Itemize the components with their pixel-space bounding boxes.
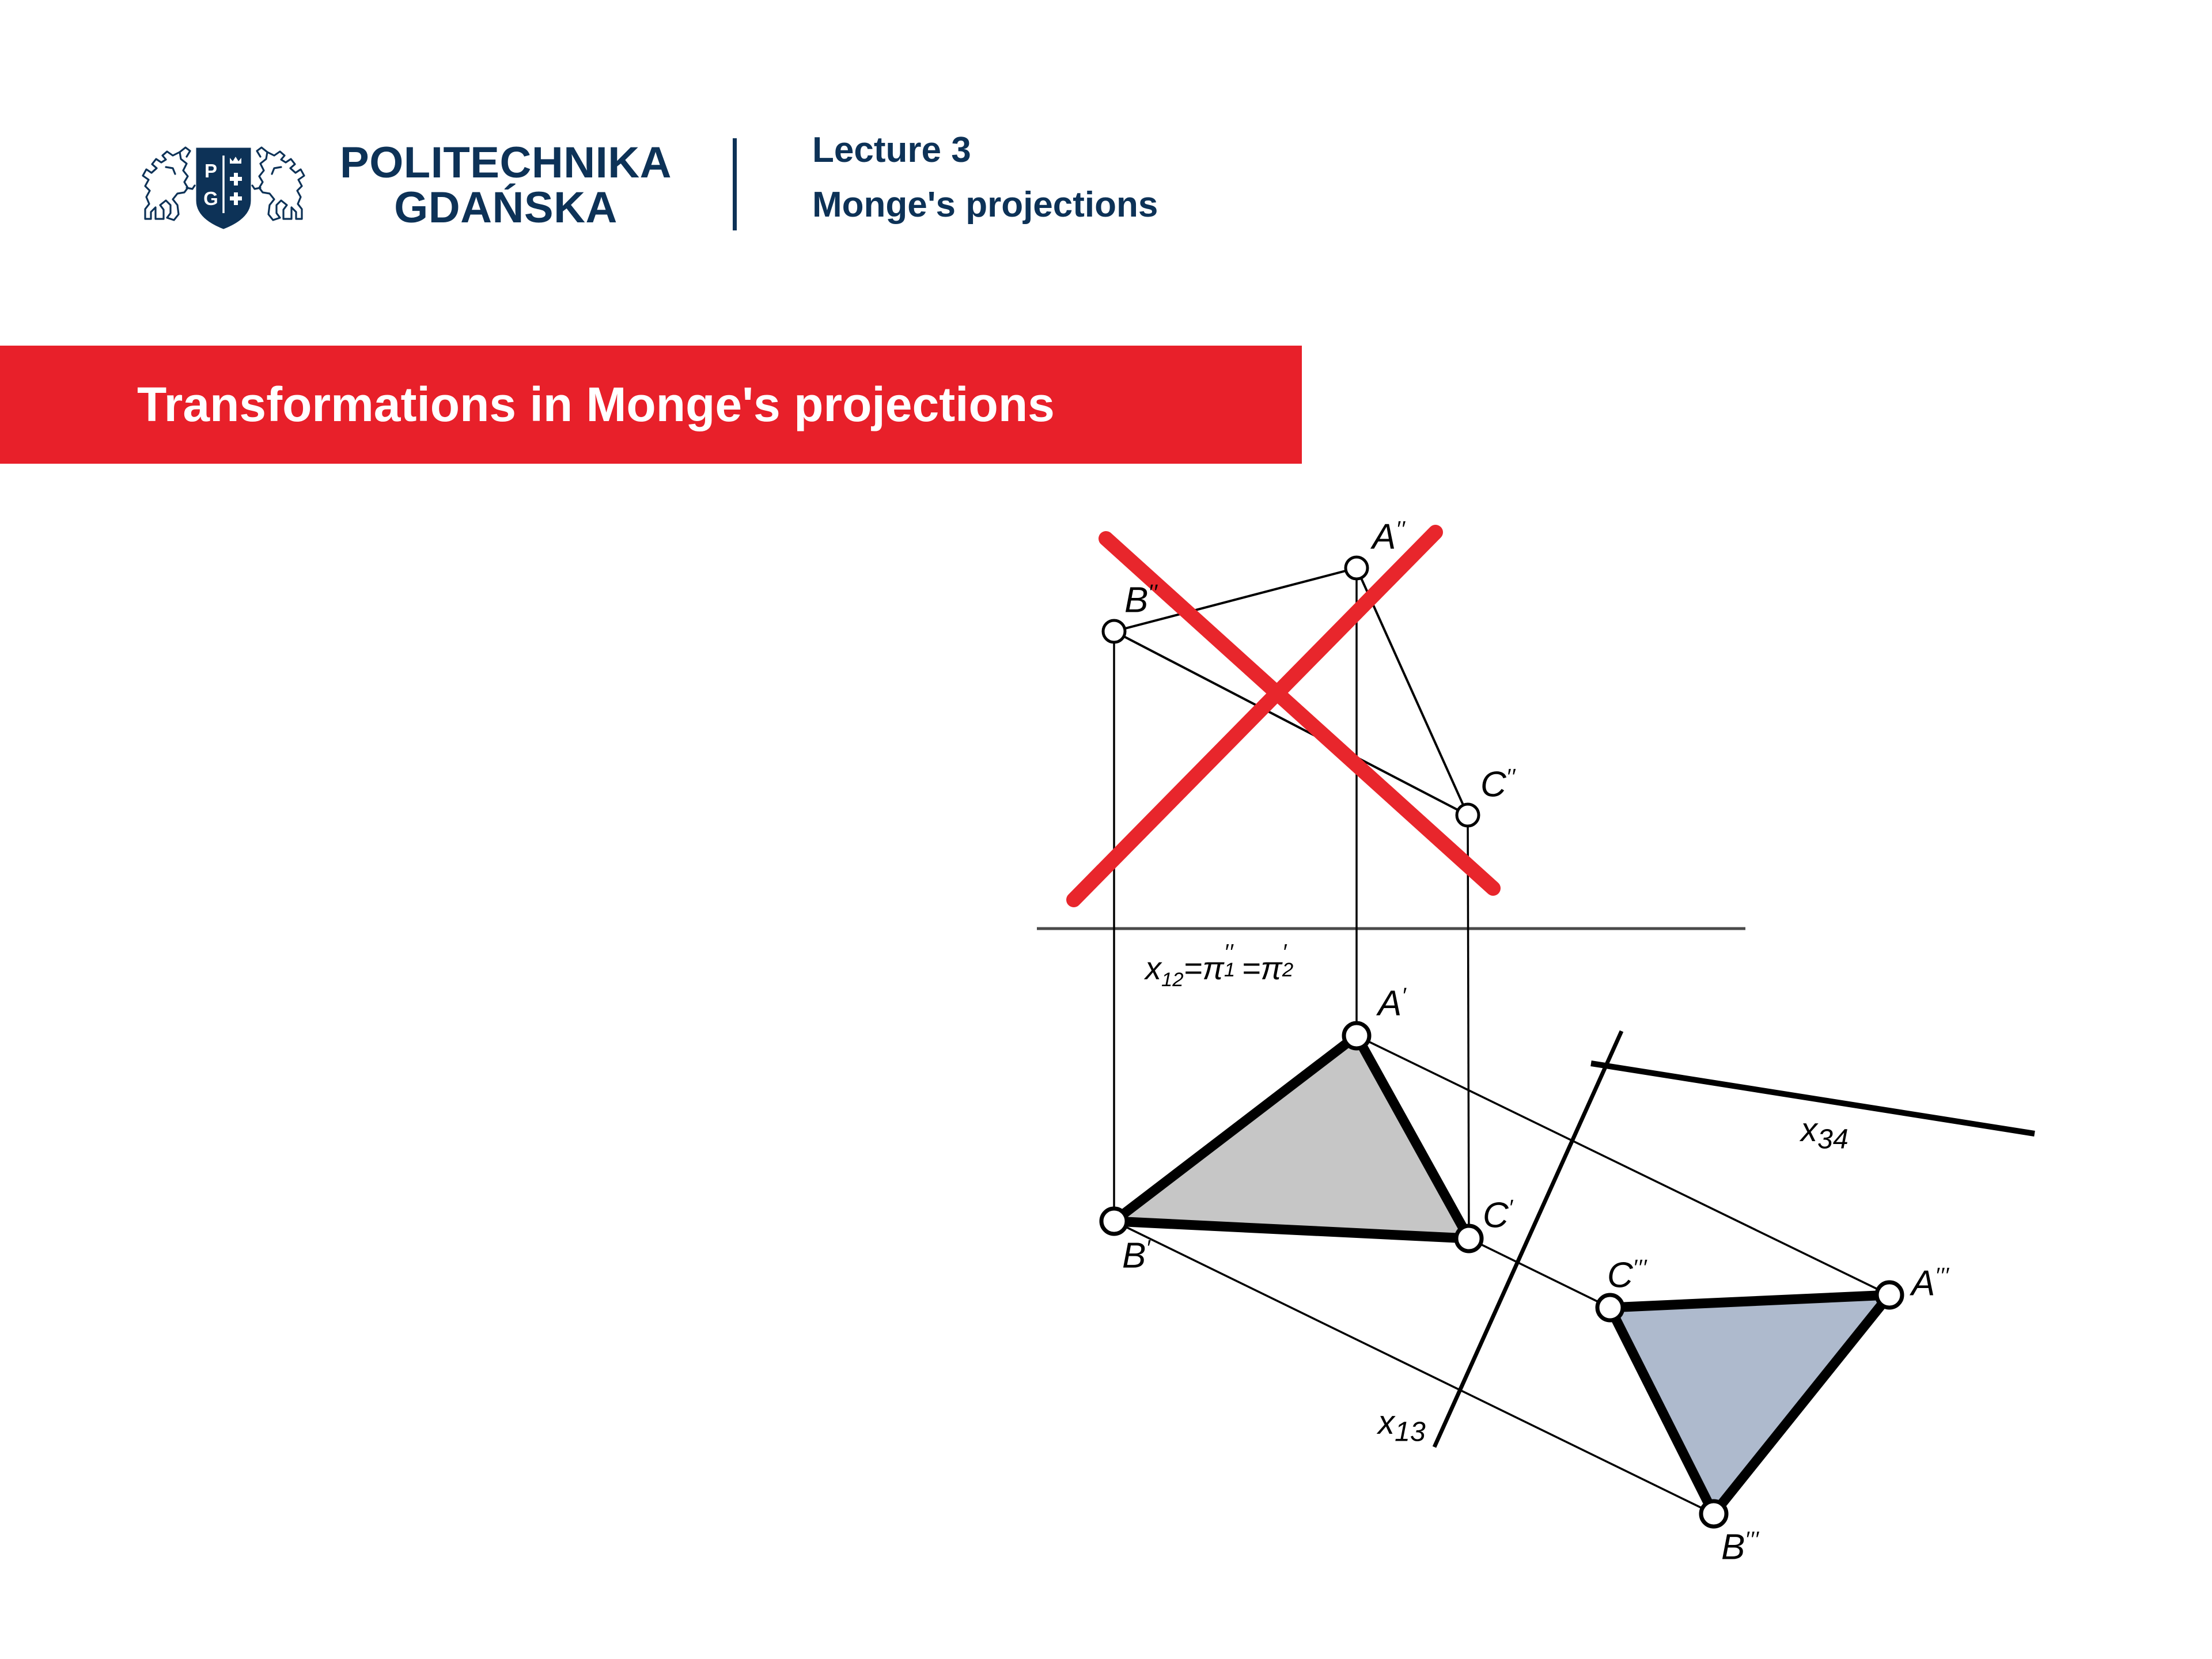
point-label-A3: A′′′ bbox=[1911, 1265, 1949, 1302]
axis-label-x13: x13 bbox=[1378, 1403, 1426, 1448]
point-marker-A1 bbox=[1344, 1023, 1369, 1048]
triangle-second-projection bbox=[1114, 568, 1468, 815]
point-marker-B3 bbox=[1701, 1501, 1726, 1527]
point-marker-C3 bbox=[1597, 1295, 1623, 1320]
point-label-B3: B′′′ bbox=[1721, 1529, 1759, 1566]
monge-projection-diagram: A′′ B′′ C′′ A′ B′ C′ A′′′ B′′′ C′′′ x34 … bbox=[0, 0, 2212, 1659]
point-marker-C1 bbox=[1456, 1226, 1482, 1251]
point-marker-A3 bbox=[1877, 1282, 1902, 1308]
point-label-C2: C′′ bbox=[1480, 766, 1516, 803]
point-marker-B1 bbox=[1101, 1209, 1127, 1234]
point-label-A2: A′′ bbox=[1372, 518, 1406, 555]
triangle-first-projection bbox=[1114, 1036, 1469, 1238]
point-marker-C2 bbox=[1457, 804, 1479, 826]
axis-label-x34: x34 bbox=[1801, 1111, 1849, 1156]
triangle-third-projection bbox=[1610, 1295, 1889, 1514]
point-label-A1: A′ bbox=[1378, 985, 1407, 1022]
point-label-C3: C′′′ bbox=[1607, 1257, 1647, 1294]
point-label-B1: B′ bbox=[1122, 1237, 1151, 1274]
point-marker-A2 bbox=[1346, 557, 1368, 579]
point-label-C1: C′ bbox=[1483, 1197, 1513, 1234]
point-marker-B2 bbox=[1103, 620, 1125, 642]
point-label-B2: B′′ bbox=[1124, 582, 1158, 619]
recall-line-C bbox=[1468, 815, 1469, 1238]
axis-label-x12-formula: x12=π′′1=π′2 bbox=[1145, 949, 1282, 991]
projection-line-C bbox=[1469, 1238, 1610, 1308]
